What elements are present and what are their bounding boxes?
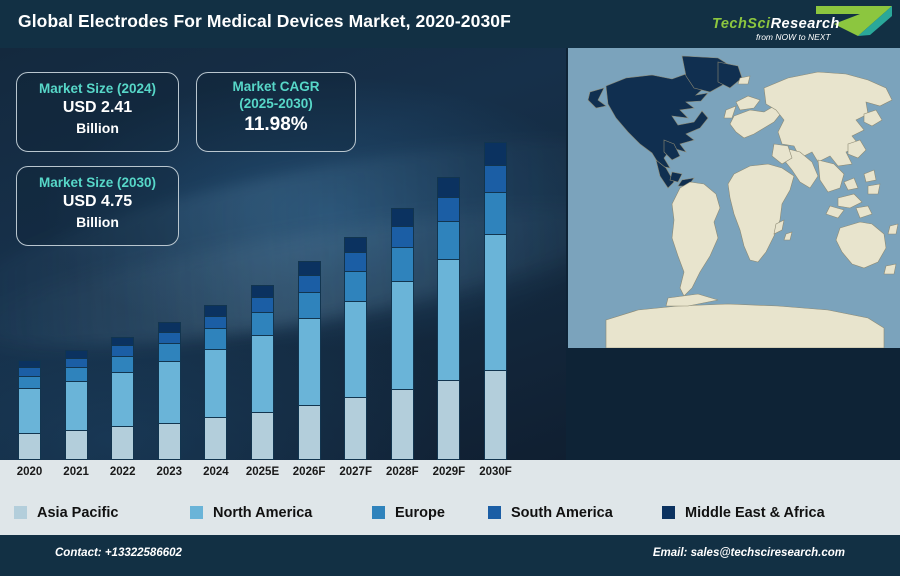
bar-2022 <box>111 337 134 460</box>
stat-card-market-size-2024: Market Size (2024) USD 2.41 Billion <box>16 72 179 152</box>
bar-segment-middle-east-africa <box>204 305 227 316</box>
logo-text-part1: TechSci <box>712 16 771 32</box>
bar-segment-europe <box>298 292 321 318</box>
header-bar: Global Electrodes For Medical Devices Ma… <box>0 0 900 48</box>
infographic-root: Global Electrodes For Medical Devices Ma… <box>0 0 900 576</box>
bar-segment-north-america <box>344 301 367 398</box>
stat-value: USD 2.41 <box>17 98 178 119</box>
x-axis-tick-2020: 2020 <box>7 466 53 478</box>
stat-card-market-cagr: Market CAGR (2025-2030) 11.98% <box>196 72 356 152</box>
stat-label: Market CAGR <box>197 79 355 96</box>
x-axis-tick-2025E: 2025E <box>240 466 286 478</box>
legend-item-asia-pacific[interactable]: Asia Pacific <box>14 505 118 521</box>
legend-swatch-icon <box>190 506 203 519</box>
stat-label: Market Size (2024) <box>17 81 178 98</box>
x-axis-tick-2028F: 2028F <box>379 466 425 478</box>
bar-segment-asia-pacific <box>111 426 134 460</box>
bar-segment-asia-pacific <box>65 430 88 460</box>
bar-segment-north-america <box>18 388 41 433</box>
bar-segment-middle-east-africa <box>437 177 460 197</box>
bar-segment-europe <box>344 271 367 301</box>
bar-segment-europe <box>391 247 414 281</box>
legend-item-europe[interactable]: Europe <box>372 505 445 521</box>
x-axis-tick-2024: 2024 <box>193 466 239 478</box>
footer-email: Email: sales@techsciresearch.com <box>653 547 845 559</box>
bar-segment-north-america <box>251 335 274 412</box>
bar-segment-south-america <box>204 316 227 329</box>
bar-segment-north-america <box>158 361 181 422</box>
x-axis-labels: 202020212022202320242025E2026F2027F2028F… <box>0 460 566 490</box>
bar-segment-south-america <box>158 332 181 344</box>
x-axis-tick-2030F: 2030F <box>473 466 519 478</box>
bar-2030F <box>484 142 507 460</box>
bar-segment-europe <box>65 367 88 381</box>
stat-unit: Billion <box>17 119 178 137</box>
legend-label: Middle East & Africa <box>685 505 825 521</box>
footer-contact: Contact: +13322586602 <box>55 547 182 559</box>
bar-2023 <box>158 322 181 460</box>
bar-segment-middle-east-africa <box>344 237 367 252</box>
bar-segment-middle-east-africa <box>65 350 88 358</box>
logo-text-part2: Research <box>771 16 840 32</box>
x-axis-tick-2026F: 2026F <box>286 466 332 478</box>
bar-segment-north-america <box>484 234 507 369</box>
bar-segment-asia-pacific <box>298 405 321 460</box>
bar-segment-asia-pacific <box>18 433 41 460</box>
bar-segment-south-america <box>65 358 88 367</box>
legend-label: North America <box>213 505 312 521</box>
stat-value: 11.98% <box>197 113 355 138</box>
bar-segment-middle-east-africa <box>298 261 321 275</box>
logo-tagline: from NOW to NEXT <box>756 32 831 42</box>
bar-segment-middle-east-africa <box>111 337 134 345</box>
bar-2028F <box>391 208 414 460</box>
bar-segment-north-america <box>111 372 134 427</box>
stat-unit: Billion <box>17 213 178 231</box>
legend-item-south-america[interactable]: South America <box>488 505 613 521</box>
bar-segment-middle-east-africa <box>158 322 181 332</box>
bar-2029F <box>437 177 460 460</box>
techsci-research-logo: TechSciResearch from NOW to NEXT <box>708 2 894 48</box>
stat-label: Market Size (2030) <box>17 175 178 192</box>
legend-item-middle-east-africa[interactable]: Middle East & Africa <box>662 505 825 521</box>
legend-label: Asia Pacific <box>37 505 118 521</box>
legend-label: South America <box>511 505 613 521</box>
bar-segment-asia-pacific <box>158 423 181 460</box>
legend-swatch-icon <box>372 506 385 519</box>
bar-2025E <box>251 285 274 460</box>
legend-item-north-america[interactable]: North America <box>190 505 312 521</box>
world-map <box>568 48 900 348</box>
bar-segment-europe <box>437 221 460 259</box>
x-axis-tick-2022: 2022 <box>100 466 146 478</box>
bar-segment-north-america <box>65 381 88 430</box>
bar-segment-north-america <box>391 281 414 389</box>
bar-segment-south-america <box>391 226 414 247</box>
bar-segment-europe <box>111 356 134 372</box>
bar-2024 <box>204 305 227 460</box>
page-title: Global Electrodes For Medical Devices Ma… <box>18 11 511 32</box>
bar-segment-asia-pacific <box>344 397 367 460</box>
legend-swatch-icon <box>662 506 675 519</box>
map-panel: Largest Market: North America Fastest Gr… <box>566 48 900 460</box>
bar-segment-south-america <box>111 345 134 355</box>
bar-segment-south-america <box>437 197 460 221</box>
bar-segment-south-america <box>251 297 274 312</box>
bar-segment-europe <box>204 328 227 349</box>
bar-segment-asia-pacific <box>251 412 274 460</box>
bar-segment-middle-east-africa <box>484 142 507 165</box>
logo-text: TechSciResearch <box>712 16 840 32</box>
bar-2021 <box>65 350 88 460</box>
bar-segment-europe <box>484 192 507 235</box>
bar-2020 <box>18 360 41 460</box>
x-axis-tick-2021: 2021 <box>53 466 99 478</box>
bar-segment-south-america <box>18 367 41 375</box>
stat-card-market-size-2030: Market Size (2030) USD 4.75 Billion <box>16 166 179 246</box>
bar-segment-asia-pacific <box>437 380 460 460</box>
bar-segment-middle-east-africa <box>18 360 41 367</box>
bar-segment-north-america <box>204 349 227 417</box>
bar-segment-asia-pacific <box>391 389 414 460</box>
bar-segment-north-america <box>437 259 460 380</box>
bar-segment-europe <box>158 343 181 361</box>
x-axis-tick-2029F: 2029F <box>426 466 472 478</box>
legend-label: Europe <box>395 505 445 521</box>
legend-swatch-icon <box>488 506 501 519</box>
chart-legend: Asia PacificNorth AmericaEuropeSouth Ame… <box>0 490 900 535</box>
bar-segment-north-america <box>298 318 321 404</box>
bar-segment-south-america <box>344 252 367 271</box>
bar-2026F <box>298 261 321 460</box>
x-axis-tick-2027F: 2027F <box>333 466 379 478</box>
bar-segment-europe <box>18 376 41 389</box>
bar-2027F <box>344 237 367 460</box>
stat-value: USD 4.75 <box>17 192 178 213</box>
bar-segment-asia-pacific <box>484 370 507 460</box>
bar-segment-middle-east-africa <box>391 208 414 225</box>
bar-segment-south-america <box>484 165 507 192</box>
bar-segment-south-america <box>298 275 321 292</box>
bar-segment-asia-pacific <box>204 417 227 460</box>
bar-segment-middle-east-africa <box>251 285 274 297</box>
x-axis-tick-2023: 2023 <box>146 466 192 478</box>
footer-bar: Contact: +13322586602 Email: sales@techs… <box>0 535 900 576</box>
legend-swatch-icon <box>14 506 27 519</box>
bar-segment-europe <box>251 312 274 335</box>
stat-label-period: (2025-2030) <box>197 96 355 113</box>
world-map-icon <box>568 48 900 348</box>
